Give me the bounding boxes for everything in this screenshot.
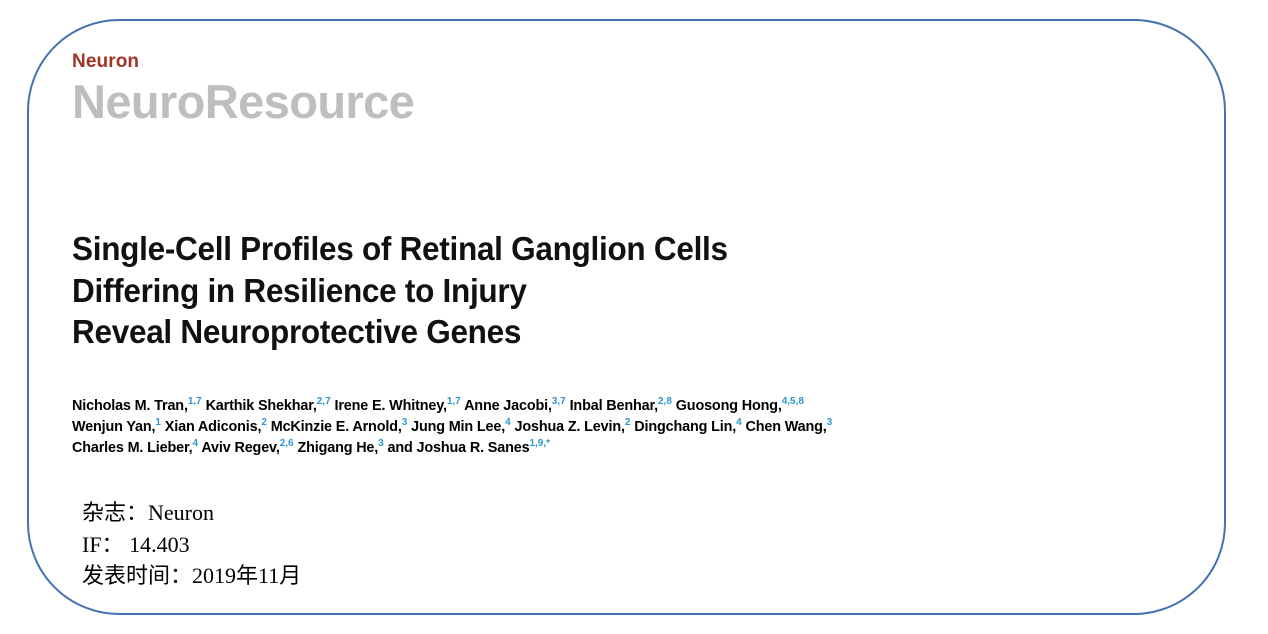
author-name: Anne Jacobi, <box>461 398 552 414</box>
metadata-block: 杂志：NeuronIF： 14.403发表时间：2019年11月 <box>82 497 301 592</box>
page-title: Single-Cell Profiles of Retinal Ganglion… <box>72 228 1084 353</box>
title-line-2: Differing in Resilience to Injury <box>72 270 1084 312</box>
author-name: Guosong Hong, <box>672 398 782 414</box>
meta-row-journal: 杂志：Neuron <box>82 497 301 529</box>
author-name: Joshua Z. Levin, <box>511 419 625 435</box>
author-affiliation-marker: 3 <box>827 417 833 428</box>
author-name: and Joshua R. Sanes <box>384 440 530 456</box>
journal-brand-block: Neuron NeuroResource <box>72 52 414 126</box>
author-affiliation-marker: 1,7 <box>447 396 461 407</box>
title-line-3: Reveal Neuroprotective Genes <box>72 311 1084 353</box>
author-name: Charles M. Lieber, <box>72 440 192 456</box>
author-list: Nicholas M. Tran,1,7 Karthik Shekhar,2,7… <box>72 396 1192 459</box>
meta-row-publication-date: 发表时间：2019年11月 <box>82 560 301 592</box>
author-affiliation-marker: 2,8 <box>658 396 672 407</box>
author-affiliation-marker: 2,7 <box>317 396 331 407</box>
article-type-label: NeuroResource <box>72 77 414 126</box>
meta-value: 2019年11月 <box>192 563 301 588</box>
author-line-2: Wenjun Yan,1 Xian Adiconis,2 McKinzie E.… <box>72 417 1192 438</box>
author-name: Zhigang He, <box>294 440 379 456</box>
title-line-1: Single-Cell Profiles of Retinal Ganglion… <box>72 228 1084 270</box>
meta-value: 14.403 <box>124 532 190 557</box>
author-name: Xian Adiconis, <box>161 419 261 435</box>
meta-label: 发表时间： <box>82 563 192 588</box>
meta-row-impact-factor: IF： 14.403 <box>82 529 301 561</box>
author-affiliation-marker: 4,5,8 <box>782 396 804 407</box>
author-name: Irene E. Whitney, <box>331 398 447 414</box>
author-affiliation-marker: 2,6 <box>280 438 294 449</box>
author-affiliation-marker: 1,7 <box>188 396 202 407</box>
meta-label: IF： <box>82 532 124 557</box>
author-affiliation-marker: 3,7 <box>552 396 566 407</box>
meta-label: 杂志： <box>82 500 148 525</box>
author-affiliation-marker: 1,9,* <box>529 438 550 449</box>
author-name: Dingchang Lin, <box>630 419 736 435</box>
author-name: Aviv Regev, <box>198 440 280 456</box>
slide-canvas: Neuron NeuroResource Single-Cell Profile… <box>0 0 1268 634</box>
author-line-3: Charles M. Lieber,4 Aviv Regev,2,6 Zhiga… <box>72 438 1192 459</box>
author-name: Nicholas M. Tran, <box>72 398 188 414</box>
journal-name: Neuron <box>72 52 414 71</box>
author-name: Wenjun Yan, <box>72 419 155 435</box>
author-name: Chen Wang, <box>742 419 827 435</box>
author-line-1: Nicholas M. Tran,1,7 Karthik Shekhar,2,7… <box>72 396 1192 417</box>
meta-value: Neuron <box>148 500 214 525</box>
author-name: Jung Min Lee, <box>407 419 505 435</box>
author-name: McKinzie E. Arnold, <box>267 419 402 435</box>
author-name: Karthik Shekhar, <box>202 398 317 414</box>
author-name: Inbal Benhar, <box>566 398 658 414</box>
